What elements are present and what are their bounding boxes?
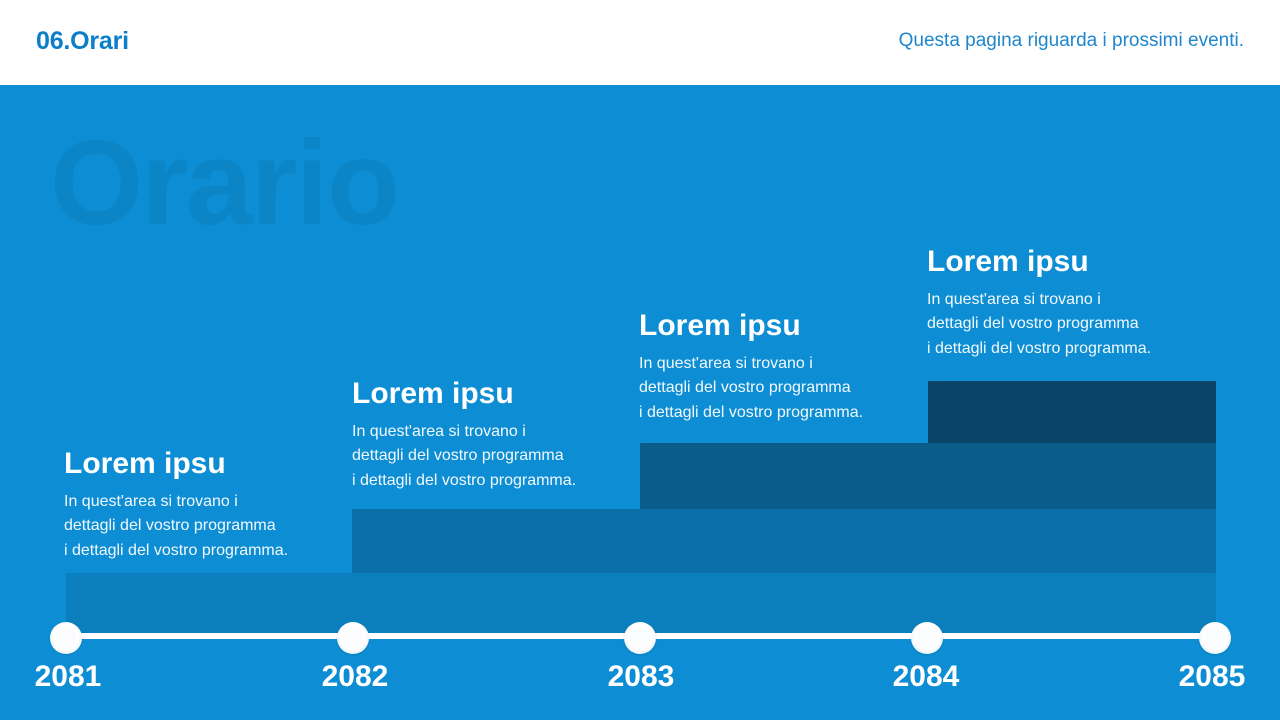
- timeline-node-2083[interactable]: [624, 622, 656, 654]
- timeline-node-2082[interactable]: [337, 622, 369, 654]
- item-block-2081: Lorem ipsu In quest'area si trovano i de…: [64, 447, 344, 563]
- slide-canvas: Orario Lorem ipsu In quest'area si trova…: [0, 85, 1280, 720]
- timeline-node-2085[interactable]: [1199, 622, 1231, 654]
- timeline-node-2081[interactable]: [50, 622, 82, 654]
- timeline-year-2083: 2083: [608, 660, 675, 694]
- watermark-text: Orario: [50, 123, 398, 243]
- timeline-node-inner: [56, 628, 76, 648]
- timeline-node-inner: [630, 628, 650, 648]
- timeline-year-2085: 2085: [1179, 660, 1246, 694]
- timeline-node-inner: [917, 628, 937, 648]
- item-title: Lorem ipsu: [639, 309, 919, 342]
- timeline-node-inner: [343, 628, 363, 648]
- item-description: In quest'area si trovano i dettagli del …: [352, 420, 632, 493]
- item-description: In quest'area si trovano i dettagli del …: [64, 490, 344, 563]
- slide-header: 06.Orari Questa pagina riguarda i prossi…: [0, 0, 1280, 85]
- item-title: Lorem ipsu: [64, 447, 344, 480]
- header-note: Questa pagina riguarda i prossimi eventi…: [899, 30, 1244, 52]
- page-title: 06.Orari: [36, 27, 129, 56]
- timeline-node-2084[interactable]: [911, 622, 943, 654]
- slide-root: 06.Orari Questa pagina riguarda i prossi…: [0, 0, 1280, 720]
- item-block-2083: Lorem ipsu In quest'area si trovano i de…: [639, 309, 919, 425]
- item-description: In quest'area si trovano i dettagli del …: [639, 352, 919, 425]
- timeline-year-2084: 2084: [893, 660, 960, 694]
- item-block-2082: Lorem ipsu In quest'area si trovano i de…: [352, 377, 632, 493]
- item-title: Lorem ipsu: [927, 245, 1217, 278]
- timeline-year-2082: 2082: [322, 660, 389, 694]
- item-block-2084: Lorem ipsu In quest'area si trovano i de…: [927, 245, 1217, 361]
- item-title: Lorem ipsu: [352, 377, 632, 410]
- timeline-year-2081: 2081: [35, 660, 102, 694]
- item-description: In quest'area si trovano i dettagli del …: [927, 288, 1217, 361]
- timeline-node-inner: [1205, 628, 1225, 648]
